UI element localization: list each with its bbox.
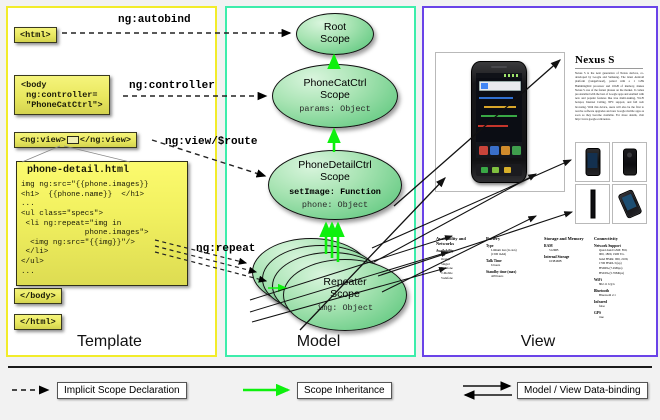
legend-bidirectional-arrow-icon <box>463 386 512 395</box>
diagram-canvas: <html> <body ng:controller= "PhoneCatCtr… <box>0 0 660 420</box>
legend-model-view-databinding: Model / View Data-binding <box>517 382 648 399</box>
legend-icon-layer <box>0 0 660 420</box>
legend-scope-inheritance: Scope Inheritance <box>297 382 392 399</box>
legend-implicit-scope-declaration: Implicit Scope Declaration <box>57 382 187 399</box>
